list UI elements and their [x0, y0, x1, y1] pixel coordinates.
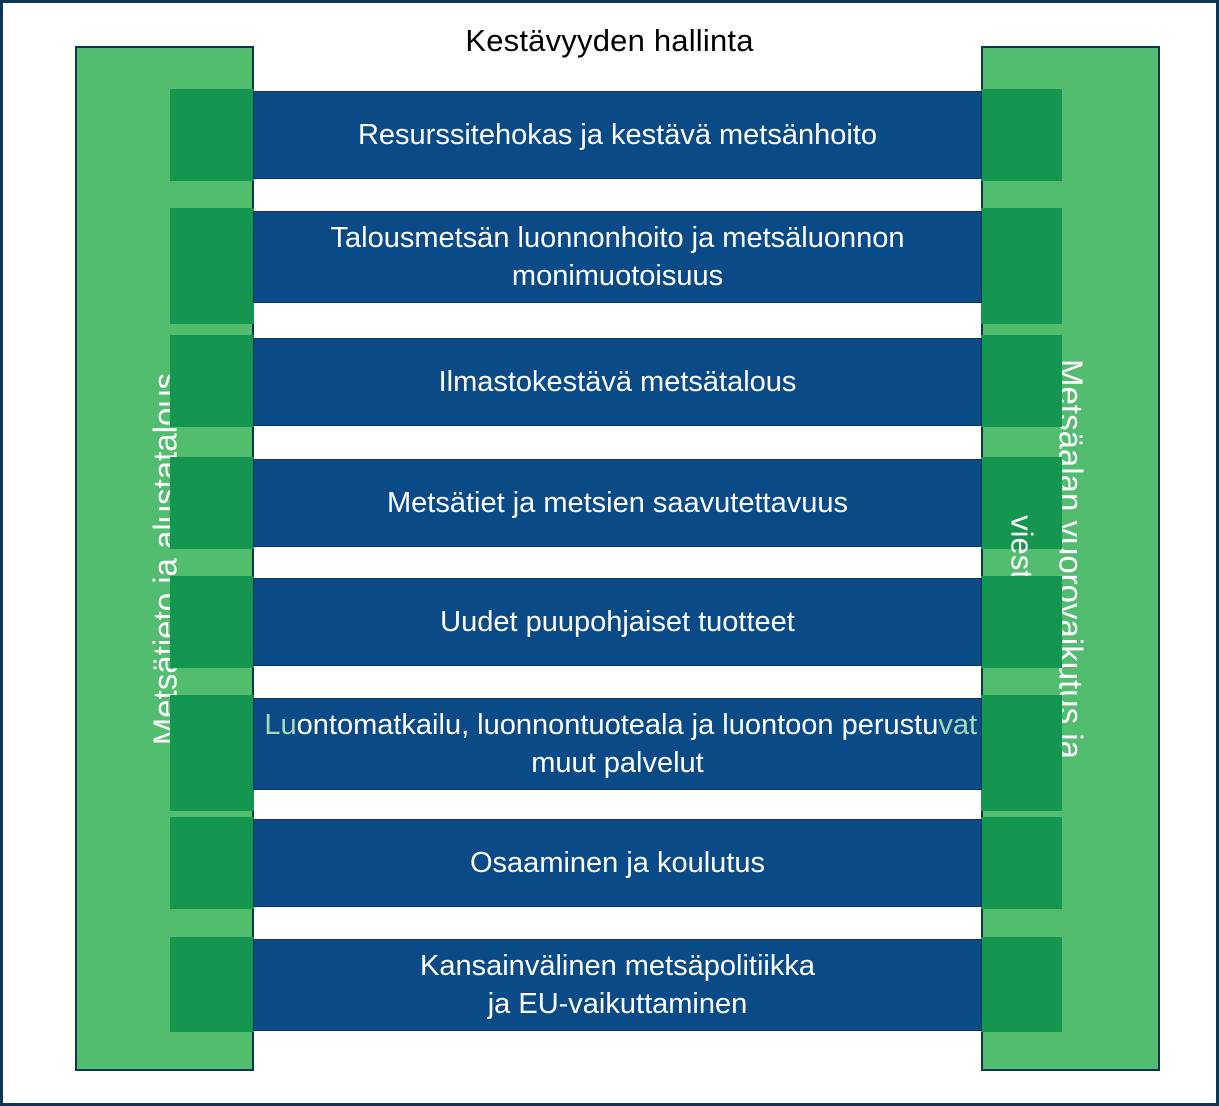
theme-row-2-label: Talousmetsän luonnonhoito ja metsäluonno…: [331, 219, 905, 296]
pillar-left-2: [170, 208, 254, 324]
theme-row-7-line1: Osaaminen ja koulutus: [470, 847, 765, 879]
theme-row-7-label: Osaaminen ja koulutus: [470, 844, 765, 882]
pillar-left-7: [170, 817, 254, 909]
sustainability-management-diagram: Kestävyyden hallinta Metsätieto ja alust…: [0, 0, 1219, 1106]
theme-row-6-overflow-lead: Lu: [264, 706, 296, 744]
pillar-left-4: [170, 457, 254, 549]
pillar-left-6: [170, 695, 254, 811]
theme-row-5-label: Uudet puupohjaiset tuotteet: [440, 603, 795, 641]
theme-row-1-label: Resurssitehokas ja kestävä metsänhoito: [358, 116, 877, 154]
theme-row-2-line1: Talousmetsän luonnonhoito ja metsäluonno…: [331, 222, 905, 254]
pillar-right-3: [981, 335, 1062, 427]
pillar-left-3: [170, 335, 254, 427]
theme-row-5[interactable]: Uudet puupohjaiset tuotteet: [253, 578, 982, 666]
theme-row-8-line2: ja EU-vaikuttaminen: [488, 988, 748, 1020]
pillar-right-8: [981, 937, 1062, 1032]
theme-row-8[interactable]: Kansainvälinen metsäpolitiikka ja EU-vai…: [253, 939, 982, 1031]
theme-row-3-label: Ilmastokestävä metsätalous: [439, 363, 797, 401]
theme-row-4-label: Metsätiet ja metsien saavutettavuus: [387, 484, 848, 522]
theme-row-8-label: Kansainvälinen metsäpolitiikka ja EU-vai…: [420, 947, 815, 1024]
pillar-left-5: [170, 576, 254, 668]
band-left-forest-information: Metsätieto ja alustatalous: [75, 46, 254, 1071]
pillar-right-2: [981, 208, 1062, 324]
theme-row-6-line2: muut palvelut: [531, 747, 704, 779]
pillar-right-6: [981, 695, 1062, 811]
theme-row-6[interactable]: Luontomatkailu, luonnontuoteala ja luont…: [253, 698, 982, 790]
theme-row-3-line1: Ilmastokestävä metsätalous: [439, 366, 797, 398]
pillar-right-7: [981, 817, 1062, 909]
pillar-left-1: [170, 89, 254, 181]
band-left-label: Metsätieto ja alustatalous: [148, 372, 181, 744]
pillar-right-1: [981, 89, 1062, 181]
theme-row-2[interactable]: Talousmetsän luonnonhoito ja metsäluonno…: [253, 211, 982, 303]
pillar-right-5: [981, 576, 1062, 668]
theme-row-4-line1: Metsätiet ja metsien saavutettavuus: [387, 487, 848, 519]
theme-row-6-line1: ontomatkailu, luonnontuoteala ja luontoo…: [297, 709, 939, 741]
theme-row-4[interactable]: Metsätiet ja metsien saavutettavuus: [253, 459, 982, 547]
theme-row-7[interactable]: Osaaminen ja koulutus: [253, 819, 982, 907]
pillar-left-8: [170, 937, 254, 1032]
theme-row-5-line1: Uudet puupohjaiset tuotteet: [440, 606, 795, 638]
theme-row-8-line1: Kansainvälinen metsäpolitiikka: [420, 950, 815, 982]
theme-row-6-label: Luontomatkailu, luonnontuoteala ja luont…: [297, 706, 939, 783]
theme-row-1-line1: Resurssitehokas ja kestävä metsänhoito: [358, 119, 877, 151]
theme-row-3[interactable]: Ilmastokestävä metsätalous: [253, 338, 982, 426]
theme-row-1[interactable]: Resurssitehokas ja kestävä metsänhoito: [253, 91, 982, 179]
theme-row-2-line2: monimuotoisuus: [512, 260, 723, 292]
pillar-right-4: viestintä: [981, 457, 1062, 549]
theme-row-6-overflow-trail: vat: [938, 706, 977, 744]
